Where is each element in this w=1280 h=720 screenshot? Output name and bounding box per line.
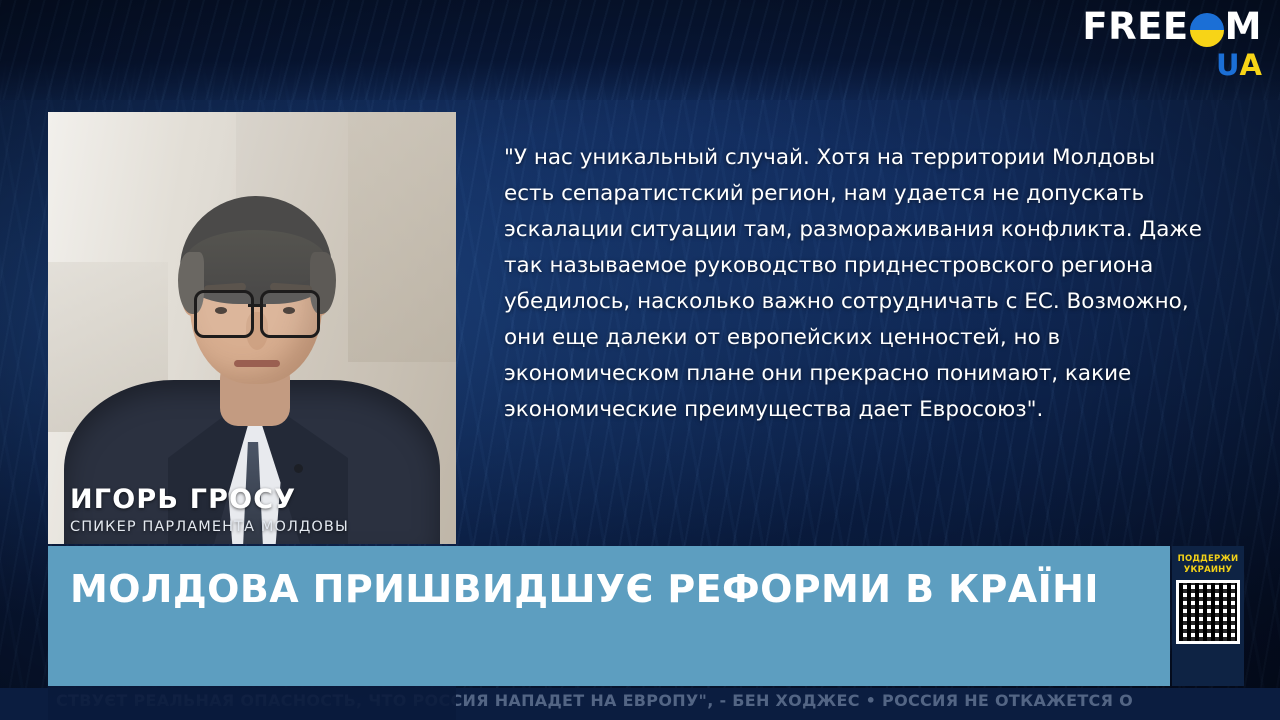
speaker-name: ИГОРЬ ГРОСУ bbox=[70, 484, 296, 515]
broadcast-screen: FREE M U A bbox=[0, 0, 1280, 720]
speaker-mouth bbox=[234, 360, 280, 367]
logo-wordmark: FREE M bbox=[1082, 8, 1262, 45]
logo-country-code: U A bbox=[1082, 51, 1262, 80]
glasses-lens-right bbox=[260, 290, 320, 338]
channel-logo: FREE M U A bbox=[1082, 8, 1262, 80]
qr-code-icon[interactable] bbox=[1176, 580, 1240, 644]
speaker-photo bbox=[48, 112, 456, 544]
headline-text: МОЛДОВА ПРИШВИДШУЄ РЕФОРМИ В КРАЇНІ bbox=[70, 562, 1150, 616]
logo-text-free: FREE bbox=[1082, 8, 1188, 45]
headline-banner: МОЛДОВА ПРИШВИДШУЄ РЕФОРМИ В КРАЇНІ bbox=[48, 546, 1170, 686]
photo-wall-panel-right bbox=[348, 112, 456, 362]
logo-letter-u: U bbox=[1216, 51, 1240, 80]
lapel-microphone-icon bbox=[294, 464, 303, 473]
glasses-lens-left bbox=[194, 290, 254, 338]
logo-circle-icon bbox=[1190, 13, 1224, 47]
glasses-icon bbox=[194, 290, 320, 334]
support-ukraine-promo[interactable]: ПОДДЕРЖИ УКРАИНУ bbox=[1172, 546, 1244, 686]
speaker-role: СПИКЕР ПАРЛАМЕНТА МОЛДОВЫ bbox=[70, 519, 349, 535]
quote-text: "У нас уникальный случай. Хотя на террит… bbox=[504, 140, 1204, 428]
promo-caption-line2: УКРАИНУ bbox=[1184, 565, 1233, 575]
logo-text-m: M bbox=[1225, 8, 1262, 45]
logo-letter-a: A bbox=[1240, 51, 1262, 80]
promo-caption-line1: ПОДДЕРЖИ bbox=[1178, 554, 1239, 564]
